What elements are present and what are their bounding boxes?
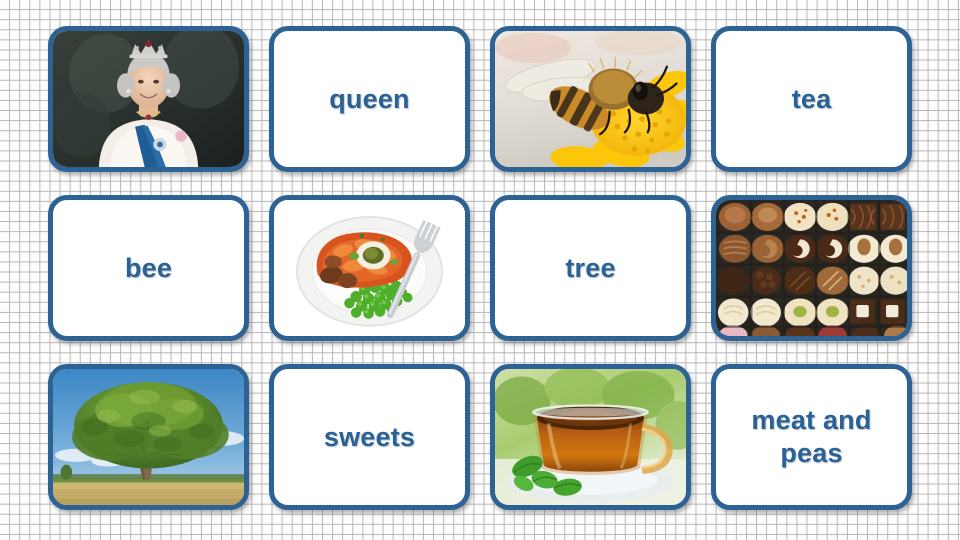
card-tea-photo[interactable] xyxy=(490,364,691,510)
card-tree-photo[interactable] xyxy=(48,364,249,510)
oak-tree-image xyxy=(53,369,244,505)
card-label: bee xyxy=(117,252,180,285)
card-sweets-photo[interactable] xyxy=(711,195,912,341)
meat-and-peas-image xyxy=(274,200,465,336)
bee-image xyxy=(495,31,686,167)
card-label: queen xyxy=(321,83,418,116)
card-bee-word[interactable]: bee xyxy=(48,195,249,341)
card-meal-word[interactable]: meat and peas xyxy=(711,364,912,510)
card-label: tea xyxy=(784,83,840,116)
card-queen-photo[interactable] xyxy=(48,26,249,172)
tea-cup-image xyxy=(495,369,686,505)
matching-card-board: queen xyxy=(0,0,960,540)
card-label: sweets xyxy=(316,421,423,454)
card-grid: queen xyxy=(48,26,912,510)
card-sweets-word[interactable]: sweets xyxy=(269,364,470,510)
card-label: meat and peas xyxy=(716,404,907,470)
card-label: tree xyxy=(557,252,623,285)
card-tree-word[interactable]: tree xyxy=(490,195,691,341)
card-queen-word[interactable]: queen xyxy=(269,26,470,172)
chocolates-image xyxy=(716,200,907,336)
card-meal-photo[interactable] xyxy=(269,195,470,341)
card-tea-word[interactable]: tea xyxy=(711,26,912,172)
queen-portrait-image xyxy=(53,31,244,167)
card-bee-photo[interactable] xyxy=(490,26,691,172)
